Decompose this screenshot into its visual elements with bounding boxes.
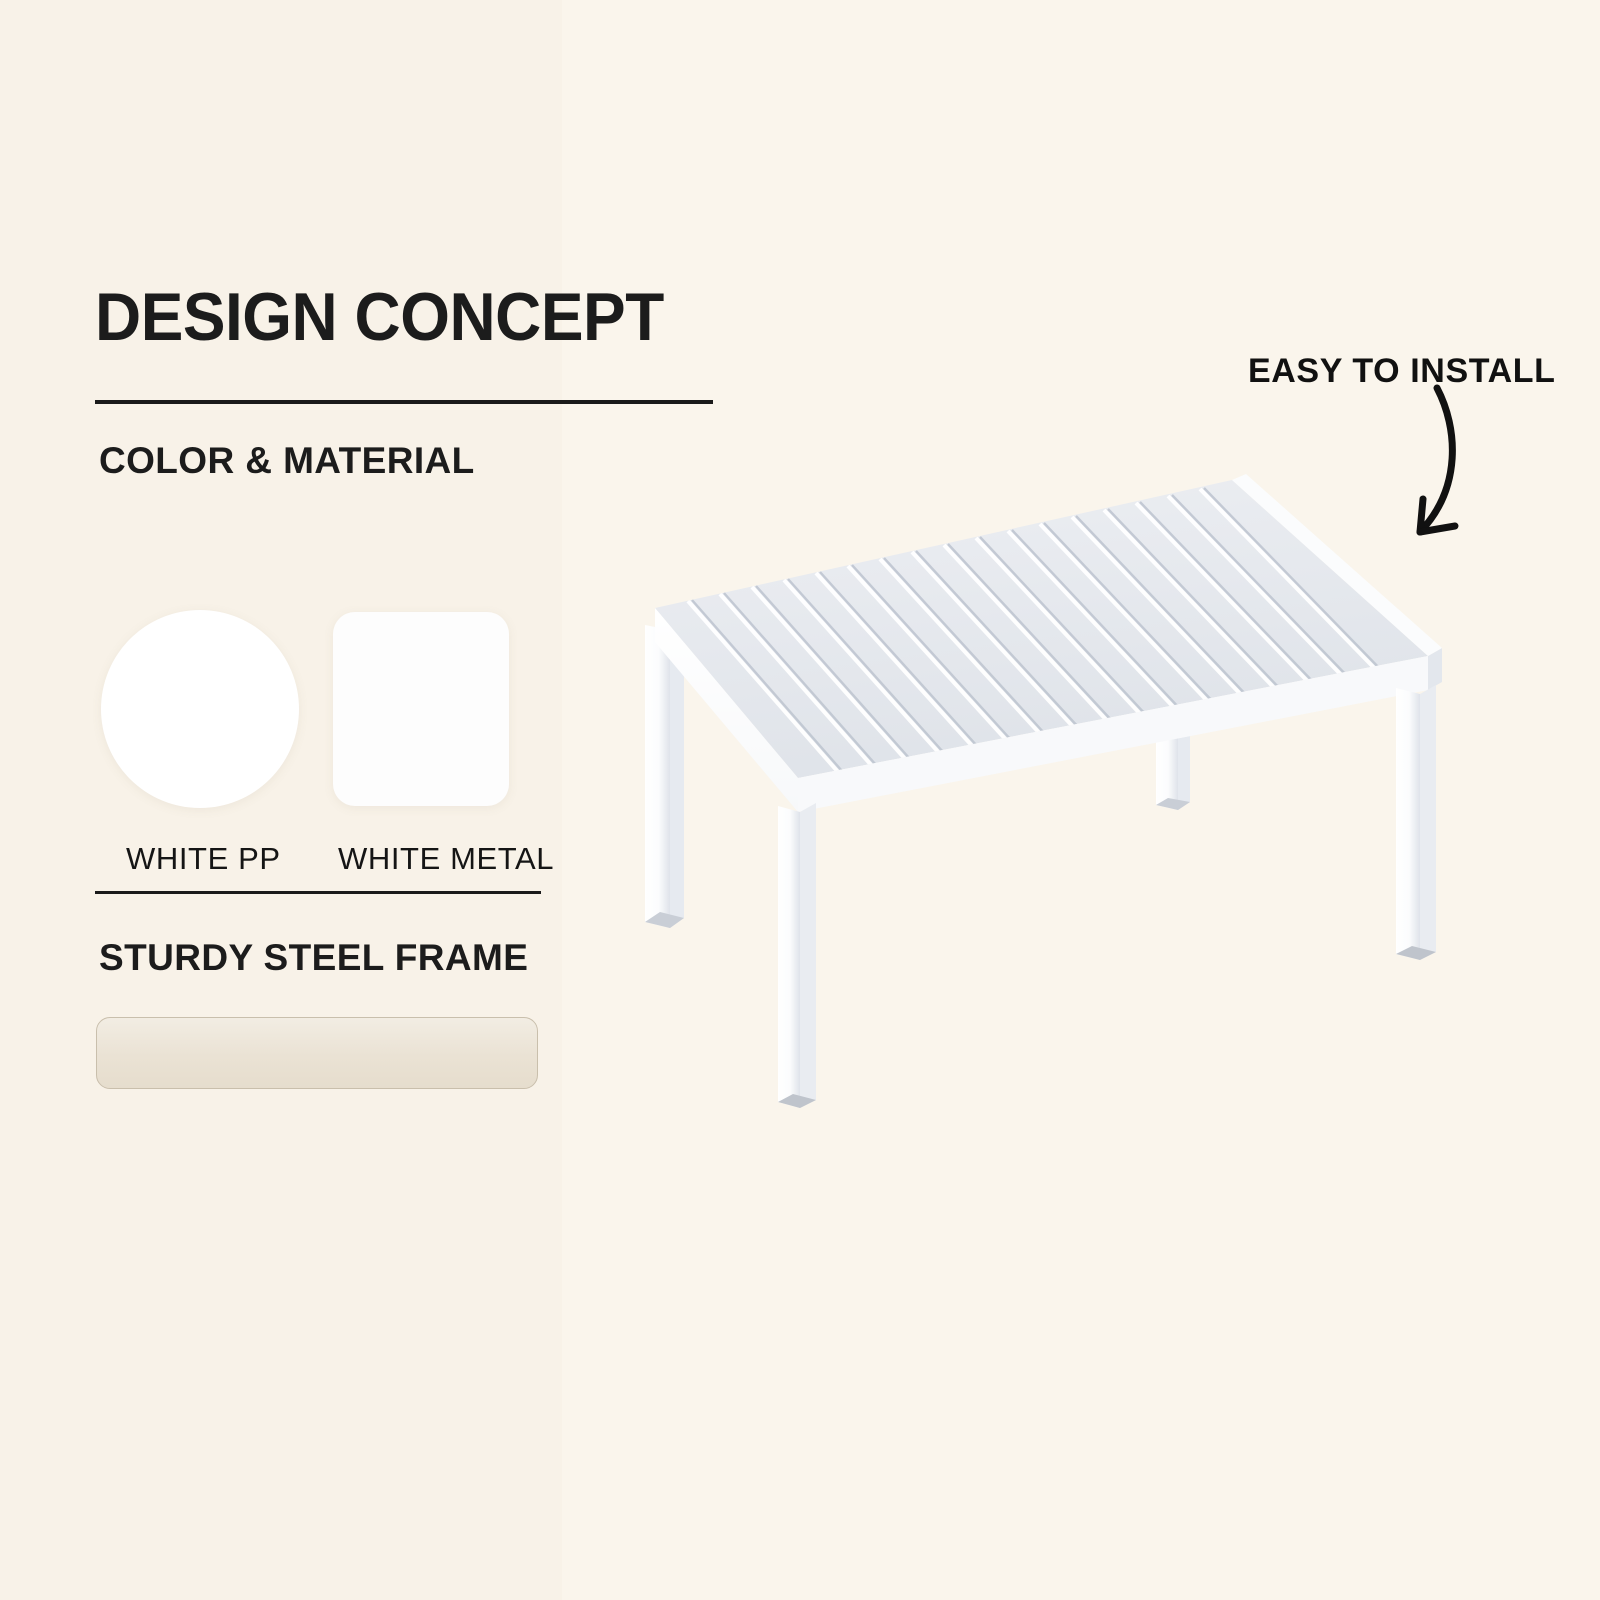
swatch-white-metal (333, 612, 509, 806)
title-divider (95, 400, 713, 404)
section-heading-steel-frame: STURDY STEEL FRAME (99, 937, 528, 979)
swatch-steel-frame-bar (96, 1017, 538, 1089)
table-group (645, 474, 1442, 1108)
swatch-white-pp (101, 610, 299, 808)
table-leg-front-left (778, 803, 816, 1108)
infographic-canvas: DESIGN CONCEPT COLOR & MATERIAL WHITE PP… (0, 0, 1600, 1600)
page-title: DESIGN CONCEPT (95, 283, 664, 351)
table-leg-front-right (1396, 685, 1436, 960)
table-top (655, 474, 1442, 812)
swatch-label-white-pp: WHITE PP (126, 841, 281, 877)
swatch-divider (95, 891, 541, 894)
section-heading-color-material: COLOR & MATERIAL (99, 440, 475, 482)
swatch-label-white-metal: WHITE METAL (338, 841, 554, 877)
product-illustration-table (600, 460, 1480, 1160)
